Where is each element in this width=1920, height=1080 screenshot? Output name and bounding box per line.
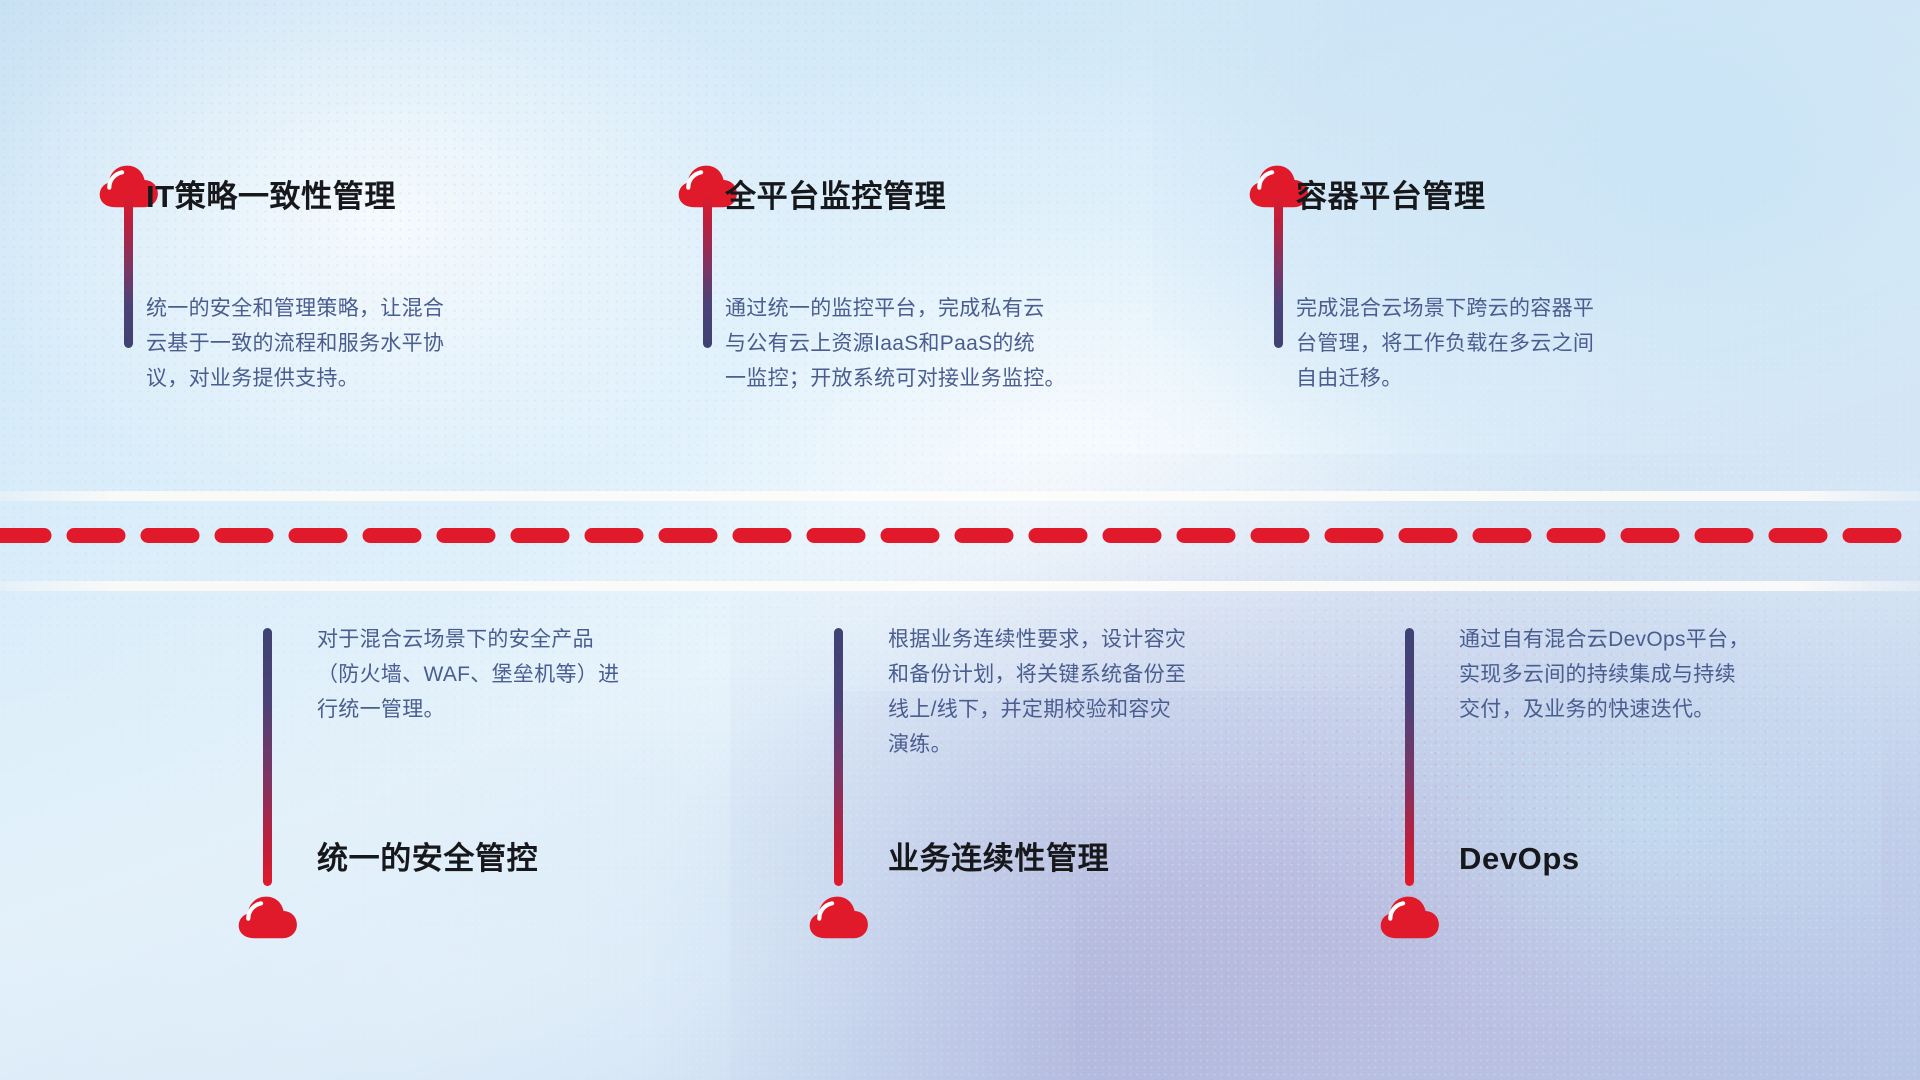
pin-unified-security xyxy=(237,894,307,940)
body-line: 与公有云上资源IaaS和PaaS的统 xyxy=(725,326,1105,361)
body-it-policy-consistency: 统一的安全和管理策略，让混合 云基于一致的流程和服务水平协 议，对业务提供支持。 xyxy=(146,291,506,396)
stem-container-platform xyxy=(1274,193,1283,348)
body-line: 演练。 xyxy=(888,727,1248,762)
divider-band-bottom xyxy=(0,581,1920,591)
stem-unified-security xyxy=(263,628,272,886)
body-line: 交付，及业务的快速迭代。 xyxy=(1459,692,1819,727)
body-line: 统一的安全和管理策略，让混合 xyxy=(146,291,506,326)
stem-full-platform-monitoring xyxy=(703,193,712,348)
body-line: 完成混合云场景下跨云的容器平 xyxy=(1296,291,1666,326)
body-line: 自由迁移。 xyxy=(1296,361,1666,396)
divider-band-top xyxy=(0,491,1920,501)
body-line: 行统一管理。 xyxy=(317,692,677,727)
body-line: 线上/线下，并定期校验和容灾 xyxy=(888,692,1248,727)
body-line: 实现多云间的持续集成与持续 xyxy=(1459,657,1819,692)
cloud-icon xyxy=(808,894,870,940)
body-line: 和备份计划，将关键系统备份至 xyxy=(888,657,1248,692)
heading-it-policy-consistency: IT策略一致性管理 xyxy=(146,181,396,212)
stem-devops xyxy=(1405,628,1414,886)
body-line: 议，对业务提供支持。 xyxy=(146,361,506,396)
stem-it-policy-consistency xyxy=(124,193,133,348)
pin-business-continuity xyxy=(808,894,878,940)
heading-container-platform: 容器平台管理 xyxy=(1296,181,1486,212)
body-unified-security: 对于混合云场景下的安全产品 （防火墙、WAF、堡垒机等）进 行统一管理。 xyxy=(317,622,677,727)
heading-business-continuity: 业务连续性管理 xyxy=(888,843,1109,874)
body-line: 对于混合云场景下的安全产品 xyxy=(317,622,677,657)
section-divider xyxy=(0,480,1920,600)
pin-devops xyxy=(1379,894,1449,940)
heading-full-platform-monitoring: 全平台监控管理 xyxy=(725,181,946,212)
body-line: 根据业务连续性要求，设计容灾 xyxy=(888,622,1248,657)
heading-unified-security: 统一的安全管控 xyxy=(317,843,538,874)
body-line: （防火墙、WAF、堡垒机等）进 xyxy=(317,657,677,692)
infographic-canvas: IT策略一致性管理 统一的安全和管理策略，让混合 云基于一致的流程和服务水平协 … xyxy=(0,0,1920,1080)
body-business-continuity: 根据业务连续性要求，设计容灾 和备份计划，将关键系统备份至 线上/线下，并定期校… xyxy=(888,622,1248,762)
body-line: 云基于一致的流程和服务水平协 xyxy=(146,326,506,361)
body-line: 一监控；开放系统可对接业务监控。 xyxy=(725,361,1105,396)
body-container-platform: 完成混合云场景下跨云的容器平 台管理，将工作负载在多云之间 自由迁移。 xyxy=(1296,291,1666,396)
body-full-platform-monitoring: 通过统一的监控平台，完成私有云 与公有云上资源IaaS和PaaS的统 一监控；开… xyxy=(725,291,1105,396)
body-line: 通过自有混合云DevOps平台， xyxy=(1459,622,1819,657)
stem-business-continuity xyxy=(834,628,843,886)
body-line: 台管理，将工作负载在多云之间 xyxy=(1296,326,1666,361)
dashed-red-line xyxy=(0,527,1920,544)
cloud-icon xyxy=(1379,894,1441,940)
body-devops: 通过自有混合云DevOps平台， 实现多云间的持续集成与持续 交付，及业务的快速… xyxy=(1459,622,1819,727)
cloud-icon xyxy=(237,894,299,940)
body-line: 通过统一的监控平台，完成私有云 xyxy=(725,291,1105,326)
heading-devops: DevOps xyxy=(1459,843,1580,874)
